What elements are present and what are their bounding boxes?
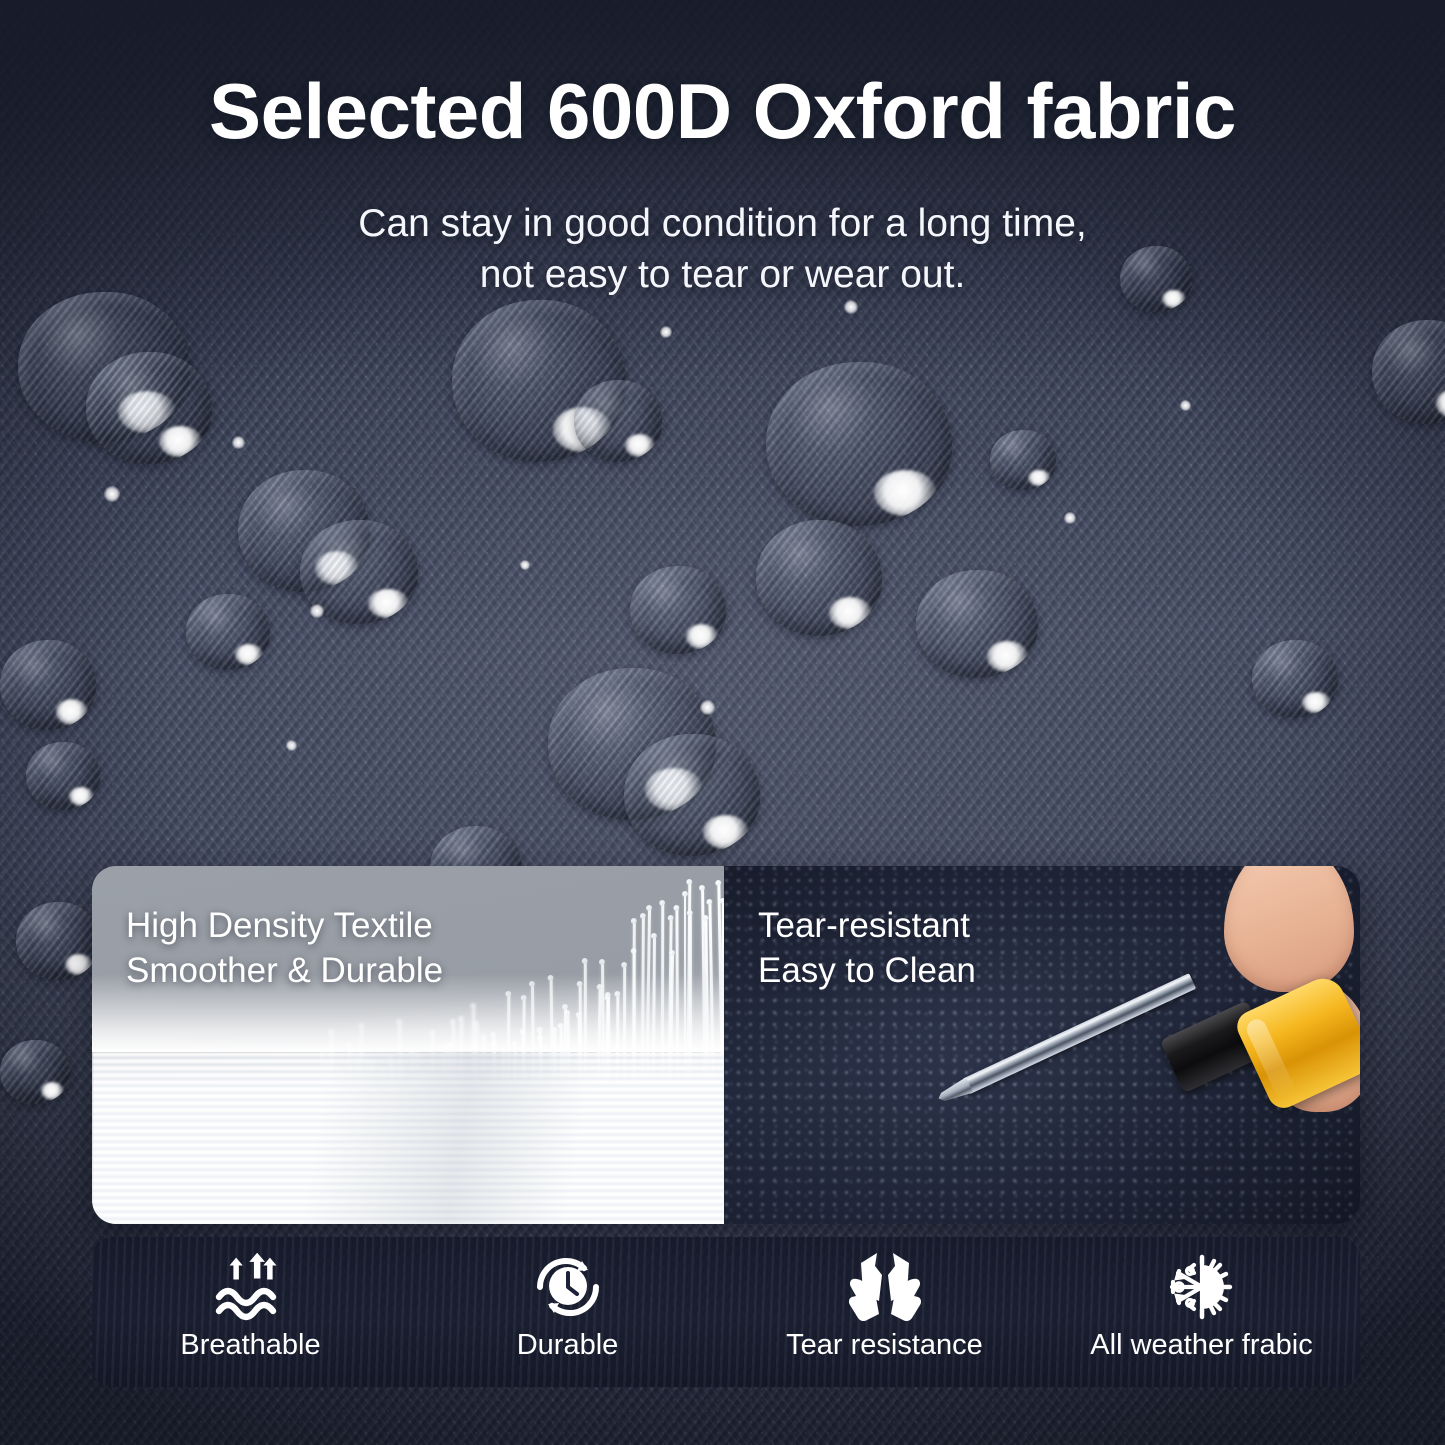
feature-bar: Breathable Durable — [92, 1237, 1360, 1387]
page-title: Selected 600D Oxford fabric — [0, 72, 1445, 150]
fiber-tip — [682, 891, 688, 897]
fiber-tip — [706, 899, 712, 905]
fiber-tip — [674, 905, 680, 911]
feature-label: All weather frabic — [1090, 1329, 1312, 1362]
fiber-tip — [668, 915, 674, 921]
panel-label-line-1: High Density Textile — [126, 904, 443, 949]
fiber-tip — [640, 913, 646, 919]
panel-high-density-textile: High Density Textile Smoother & Durable — [92, 866, 724, 1224]
feature-durable[interactable]: Durable — [409, 1237, 726, 1362]
panel-label-line-2: Smoother & Durable — [126, 949, 443, 994]
fiber-tip — [631, 918, 637, 924]
feature-label: Breathable — [180, 1329, 320, 1362]
feature-label: Durable — [517, 1329, 619, 1362]
fiber-tip — [621, 962, 627, 968]
fiber-sheet — [92, 1052, 724, 1224]
all-weather-icon — [1164, 1251, 1240, 1323]
fiber-tip — [716, 880, 722, 886]
panel-label-line-2: Easy to Clean — [758, 949, 976, 994]
fiber-tip — [647, 905, 653, 911]
fiber-tip — [687, 910, 693, 916]
panel-label-line-1: Tear-resistant — [758, 904, 976, 949]
panel-tear-resistant: Tear-resistant Easy to Clean — [724, 866, 1360, 1224]
feature-tear-resistance[interactable]: Tear resistance — [726, 1237, 1043, 1362]
feature-panels: High Density Textile Smoother & Durable … — [92, 866, 1360, 1224]
subtitle-line-1: Can stay in good condition for a long ti… — [0, 198, 1445, 249]
subtitle-line-2: not easy to tear or wear out. — [0, 249, 1445, 300]
panel-label-tear-resistant: Tear-resistant Easy to Clean — [758, 904, 976, 994]
screwdriver-tip — [935, 1077, 973, 1107]
feature-breathable[interactable]: Breathable — [92, 1237, 409, 1362]
fiber-tip — [582, 958, 588, 964]
fiber-tip — [651, 933, 657, 939]
product-feature-graphic: Selected 600D Oxford fabric Can stay in … — [0, 0, 1445, 1445]
fiber-tip — [699, 885, 705, 891]
panel-label-high-density: High Density Textile Smoother & Durable — [126, 904, 443, 994]
fiber-tip — [686, 879, 692, 885]
breathable-icon — [214, 1251, 288, 1323]
tear-resistance-icon — [847, 1251, 923, 1323]
feature-label: Tear resistance — [786, 1329, 983, 1362]
fiber-tip — [599, 959, 605, 965]
feature-all-weather[interactable]: All weather frabic — [1043, 1237, 1360, 1362]
screwdriver-image — [924, 888, 1360, 1188]
fiber-tip — [659, 900, 665, 906]
finger-top — [1224, 866, 1354, 992]
page-subtitle: Can stay in good condition for a long ti… — [0, 198, 1445, 301]
screwdriver-shaft — [962, 973, 1196, 1094]
durable-clock-icon — [532, 1251, 604, 1323]
